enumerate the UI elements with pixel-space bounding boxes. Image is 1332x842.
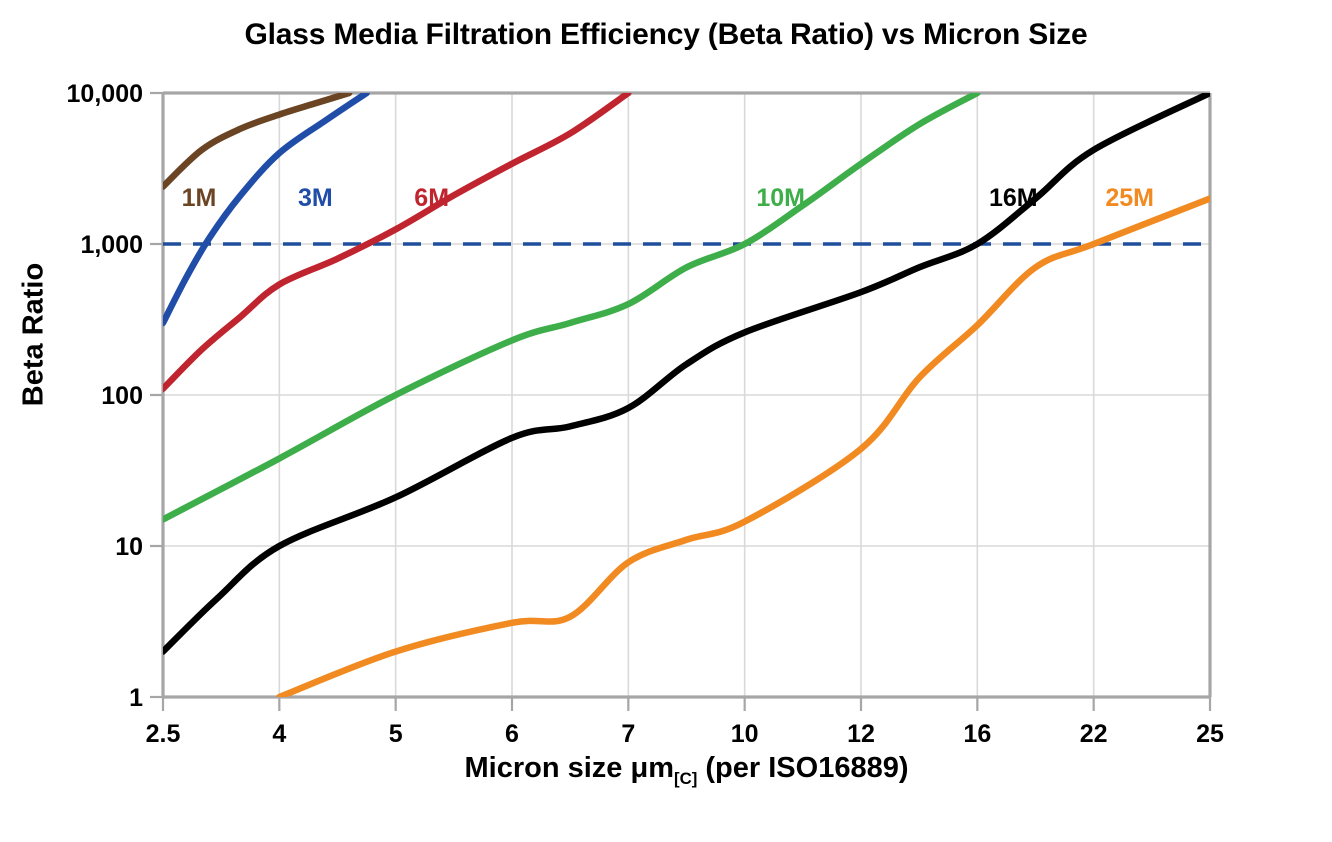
series-label-6m: 6M bbox=[414, 184, 449, 212]
y-axis-tick-label: 10 bbox=[115, 533, 143, 561]
x-axis-tick-label: 10 bbox=[731, 720, 759, 748]
series-label-10m: 10M bbox=[756, 184, 805, 212]
x-axis-title-subscript: [C] bbox=[674, 769, 697, 788]
chart-plot-area: 1101001,00010,0002.5456710121622251M3M6M… bbox=[0, 0, 1332, 842]
x-axis-title: Micron size μm[C] (per ISO16889) bbox=[163, 752, 1210, 785]
x-axis-tick-label: 4 bbox=[272, 720, 286, 748]
series-label-25m: 25M bbox=[1105, 184, 1154, 212]
x-axis-tick-label: 6 bbox=[505, 720, 519, 748]
series-label-3m: 3M bbox=[298, 184, 333, 212]
x-axis-tick-label: 25 bbox=[1196, 720, 1224, 748]
x-axis-tick-label: 2.5 bbox=[146, 720, 181, 748]
x-axis-tick-label: 7 bbox=[621, 720, 635, 748]
series-label-1m: 1M bbox=[182, 184, 217, 212]
y-axis-tick-label: 1,000 bbox=[80, 231, 143, 259]
y-axis-tick-label: 10,000 bbox=[67, 80, 143, 108]
chart-container: Glass Media Filtration Efficiency (Beta … bbox=[0, 0, 1332, 842]
x-axis-title-tail: (per ISO16889) bbox=[697, 752, 908, 784]
x-axis-title-main: Micron size μm bbox=[464, 752, 674, 784]
x-axis-tick-label: 12 bbox=[847, 720, 875, 748]
y-axis-tick-label: 100 bbox=[101, 382, 143, 410]
y-axis-tick-label: 1 bbox=[129, 684, 143, 712]
x-axis-tick-label: 22 bbox=[1080, 720, 1108, 748]
x-axis-tick-label: 5 bbox=[389, 720, 403, 748]
x-axis-tick-label: 16 bbox=[963, 720, 991, 748]
series-label-16m: 16M bbox=[989, 184, 1038, 212]
series-line-16m bbox=[163, 93, 1210, 652]
